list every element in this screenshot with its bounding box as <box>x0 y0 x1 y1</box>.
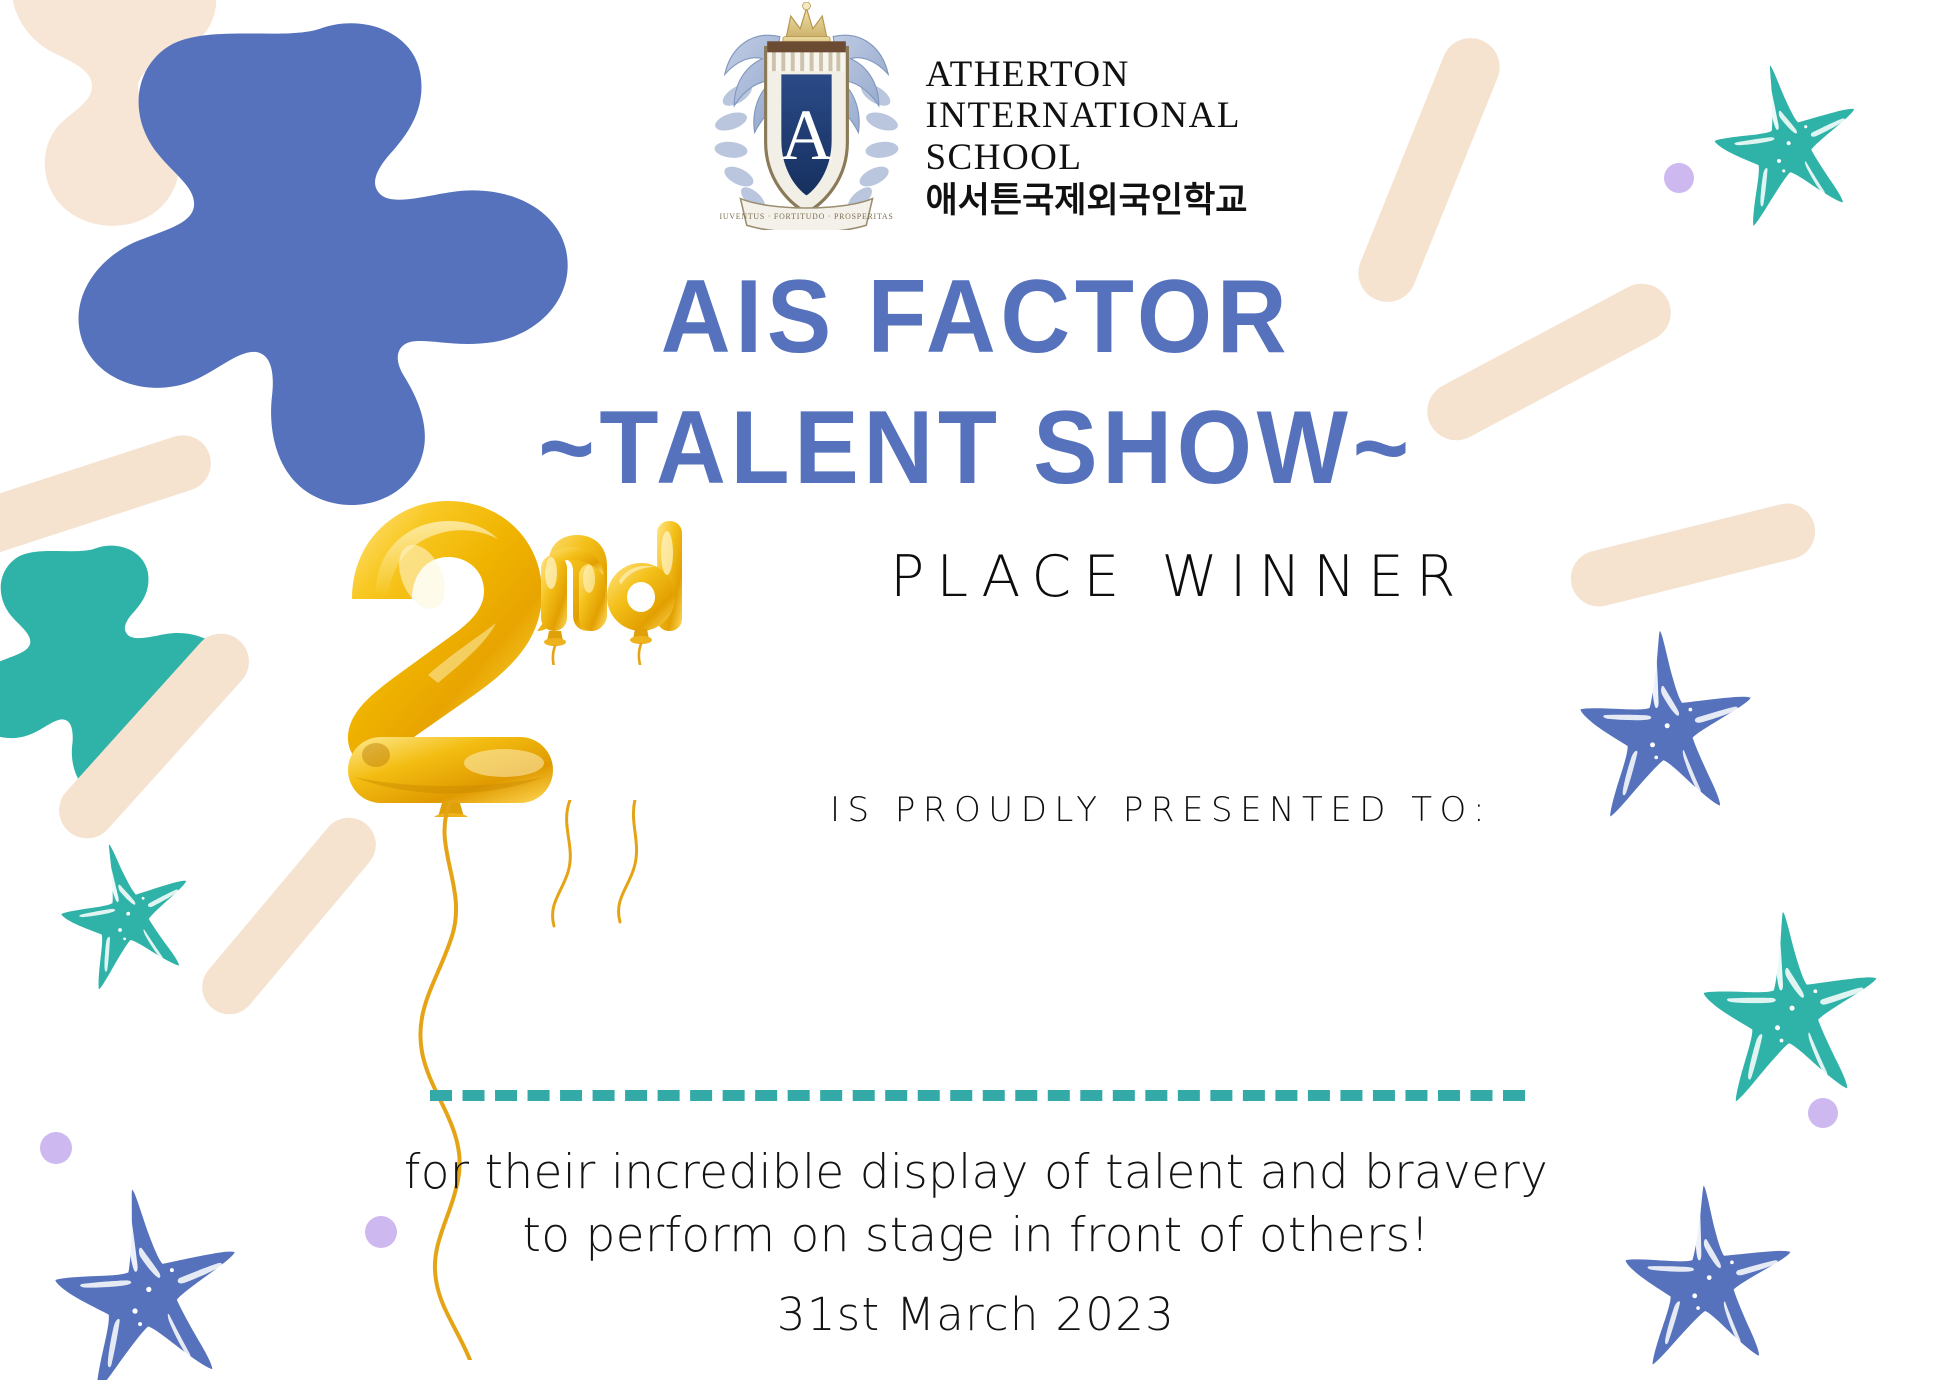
crest-icon: A IUVENTUS · FORTITUDO · PROSPERITAS <box>704 2 909 230</box>
citation-line-2: to perform on stage in front of others! <box>0 1205 1952 1268</box>
certificate-canvas: A IUVENTUS · FORTITUDO · PROSPERITAS ATH… <box>0 0 1952 1380</box>
rank-balloons <box>318 487 718 827</box>
crest-motto: IUVENTUS · FORTITUDO · PROSPERITAS <box>720 212 894 221</box>
school-name-line-3: SCHOOL <box>925 137 1247 178</box>
school-name-block: ATHERTON INTERNATIONAL SCHOOL 애서튼국제외국인학교 <box>925 2 1247 222</box>
title-line-1: AIS FACTOR <box>68 252 1883 383</box>
school-name-korean: 애서튼국제외국인학교 <box>925 180 1247 222</box>
presented-to-label: IS PROUDLY PRESENTED TO: <box>830 790 1492 830</box>
recipient-name-line <box>430 1090 1525 1101</box>
balloon-suffix-nd-icon <box>531 515 706 665</box>
citation-line-1: for their incredible display of talent a… <box>0 1142 1952 1205</box>
award-date: 31st March 2023 <box>0 1288 1952 1341</box>
school-logo: A IUVENTUS · FORTITUDO · PROSPERITAS ATH… <box>0 2 1952 230</box>
place-winner-label: PLACE WINNER <box>890 544 1467 610</box>
citation-text: for their incredible display of talent a… <box>0 1142 1952 1267</box>
content-layer: A IUVENTUS · FORTITUDO · PROSPERITAS ATH… <box>0 0 1952 1380</box>
school-name-line-1: ATHERTON <box>925 54 1247 95</box>
event-title: AIS FACTOR ~TALENT SHOW~ <box>0 252 1952 514</box>
balloon-strings <box>318 800 738 1360</box>
school-name-line-2: INTERNATIONAL <box>925 95 1247 136</box>
svg-text:A: A <box>781 95 833 175</box>
